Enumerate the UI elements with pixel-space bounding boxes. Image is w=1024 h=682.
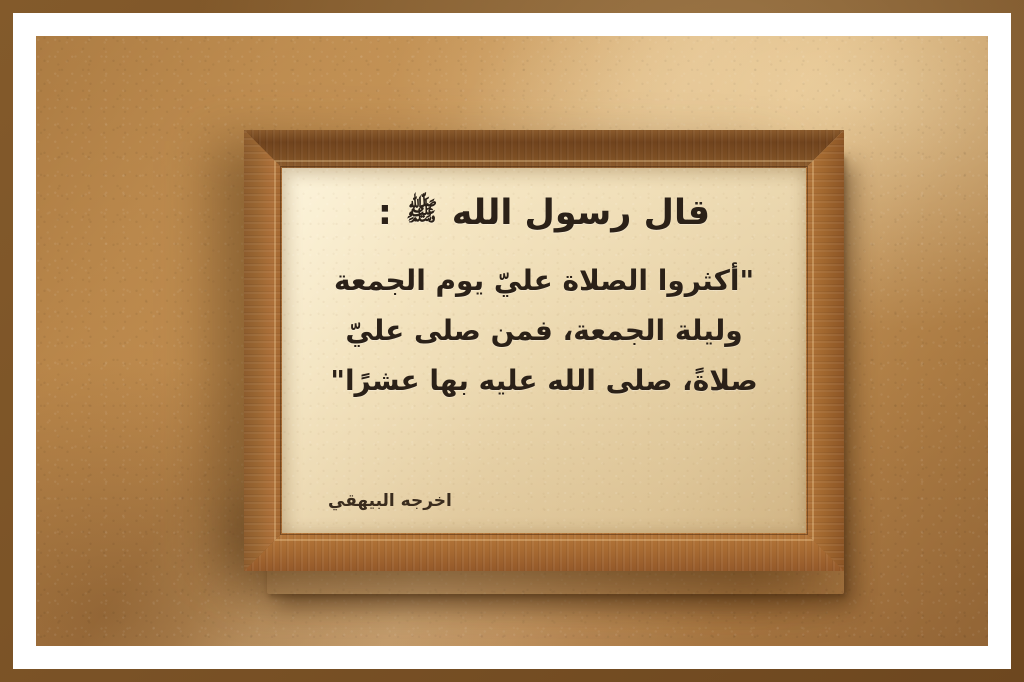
salla-allahu-alayhi-wa-sallam-icon: ﷺ <box>404 197 439 227</box>
hadith-heading-colon: : <box>378 193 392 233</box>
poster-text-block: قال رسول الله ﷺ : "أكثروا الصلاة عليّ يو… <box>282 168 806 533</box>
picture-frame: قال رسول الله ﷺ : "أكثروا الصلاة عليّ يو… <box>244 130 844 571</box>
hadith-heading: قال رسول الله ﷺ : <box>308 192 780 234</box>
quote-line-2: وليلة الجمعة، فمن صلى عليّ <box>302 306 786 356</box>
hadith-attribution: اخرجه البيهقي <box>328 491 452 511</box>
frame-rail-top <box>244 130 844 168</box>
hadith-quote: "أكثروا الصلاة عليّ يوم الجمعة وليلة الج… <box>302 256 786 405</box>
quote-line-1: "أكثروا الصلاة عليّ يوم الجمعة <box>302 256 786 306</box>
frame-rail-bottom <box>244 533 844 571</box>
frame-rail-right <box>806 130 844 571</box>
poster-paper: قال رسول الله ﷺ : "أكثروا الصلاة عليّ يو… <box>282 168 806 533</box>
white-mat-band: قال رسول الله ﷺ : "أكثروا الصلاة عليّ يو… <box>13 13 1011 669</box>
hadith-heading-prefix: قال رسول الله <box>452 193 710 233</box>
poster-root: قال رسول الله ﷺ : "أكثروا الصلاة عليّ يو… <box>0 0 1024 682</box>
frame-rail-left <box>244 130 282 571</box>
quote-line-3: صلاةً، صلى الله عليه بها عشرًا" <box>302 356 786 406</box>
wall-background: قال رسول الله ﷺ : "أكثروا الصلاة عليّ يو… <box>36 36 988 646</box>
